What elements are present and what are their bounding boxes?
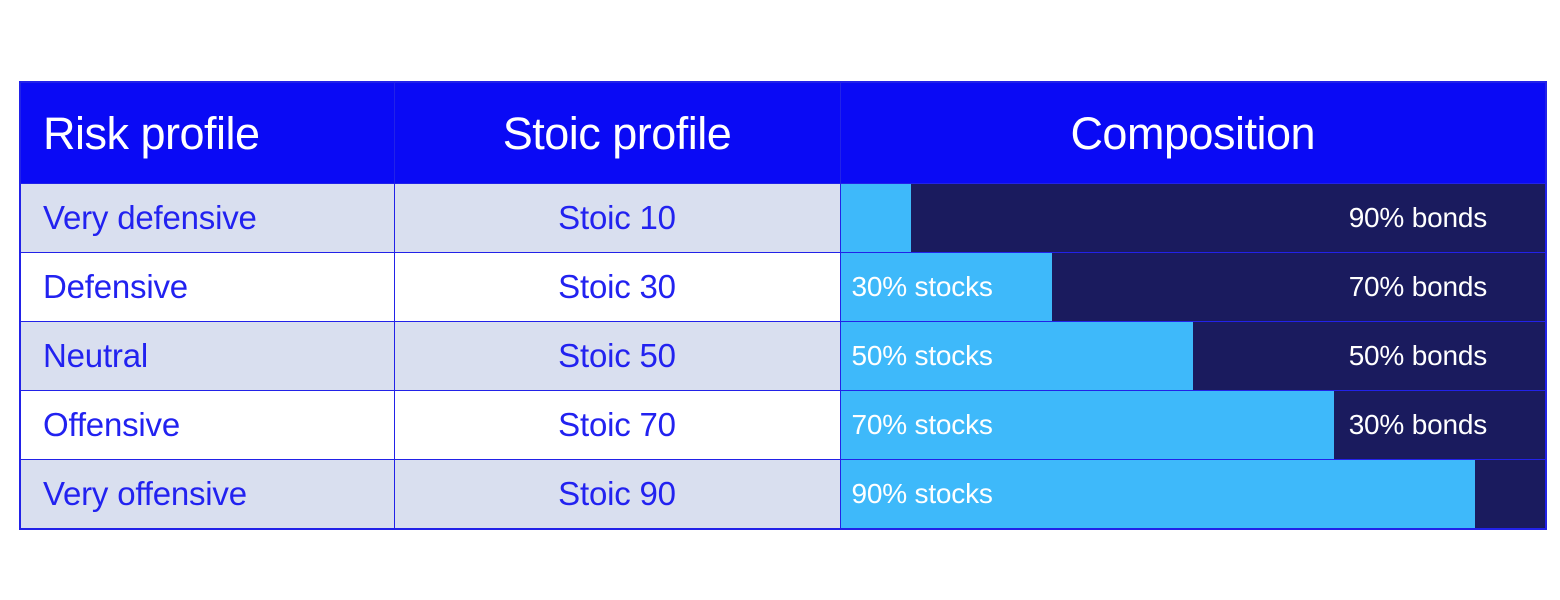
page-root: Risk profile Stoic profile Composition V… [0,0,1560,600]
stocks-label: 50% stocks [841,340,993,372]
cell-stoic-profile: Stoic 90 [394,460,840,530]
cell-stoic-profile: Stoic 50 [394,322,840,391]
bonds-segment: 50% bonds [1193,322,1545,390]
table-header: Risk profile Stoic profile Composition [20,82,1546,184]
cell-composition: 90% stocks [840,460,1546,530]
cell-composition: 50% stocks 50% bonds [840,322,1546,391]
bonds-label: 90% bonds [1349,202,1545,234]
header-row: Risk profile Stoic profile Composition [20,82,1546,184]
column-header-stoic-profile: Stoic profile [394,82,840,184]
stocks-segment: 90% stocks [841,460,1475,528]
risk-profile-table: Risk profile Stoic profile Composition V… [19,81,1547,530]
stocks-segment: 30% stocks [841,253,1052,321]
bonds-segment: 70% bonds [1052,253,1545,321]
bonds-label: 70% bonds [1349,271,1545,303]
composition-bar: 90% bonds [841,184,1546,252]
composition-bar: 30% stocks 70% bonds [841,253,1546,321]
table-body: Very defensive Stoic 10 90% bonds Defens… [20,184,1546,530]
table-row: Offensive Stoic 70 70% stocks 30% bonds [20,391,1546,460]
stocks-segment: 70% stocks [841,391,1334,459]
bonds-segment: 30% bonds [1334,391,1545,459]
stocks-segment: 50% stocks [841,322,1193,390]
stocks-label: 90% stocks [841,478,993,510]
cell-risk-profile: Defensive [20,253,394,322]
bonds-segment: 90% bonds [911,184,1545,252]
bonds-label: 30% bonds [1349,409,1545,441]
stocks-label: 70% stocks [841,409,993,441]
cell-composition: 70% stocks 30% bonds [840,391,1546,460]
cell-risk-profile: Neutral [20,322,394,391]
cell-stoic-profile: Stoic 30 [394,253,840,322]
table-row: Neutral Stoic 50 50% stocks 50% bonds [20,322,1546,391]
cell-risk-profile: Very offensive [20,460,394,530]
composition-bar: 90% stocks [841,460,1546,528]
bonds-segment [1475,460,1545,528]
stocks-segment [841,184,911,252]
table-row: Very offensive Stoic 90 90% stocks [20,460,1546,530]
column-header-risk-profile: Risk profile [20,82,394,184]
bonds-label: 50% bonds [1349,340,1545,372]
table-row: Defensive Stoic 30 30% stocks 70% bonds [20,253,1546,322]
stocks-label: 30% stocks [841,271,993,303]
composition-bar: 50% stocks 50% bonds [841,322,1546,390]
cell-composition: 90% bonds [840,184,1546,253]
column-header-composition: Composition [840,82,1546,184]
cell-stoic-profile: Stoic 10 [394,184,840,253]
cell-risk-profile: Very defensive [20,184,394,253]
cell-composition: 30% stocks 70% bonds [840,253,1546,322]
cell-risk-profile: Offensive [20,391,394,460]
composition-bar: 70% stocks 30% bonds [841,391,1546,459]
table-row: Very defensive Stoic 10 90% bonds [20,184,1546,253]
cell-stoic-profile: Stoic 70 [394,391,840,460]
